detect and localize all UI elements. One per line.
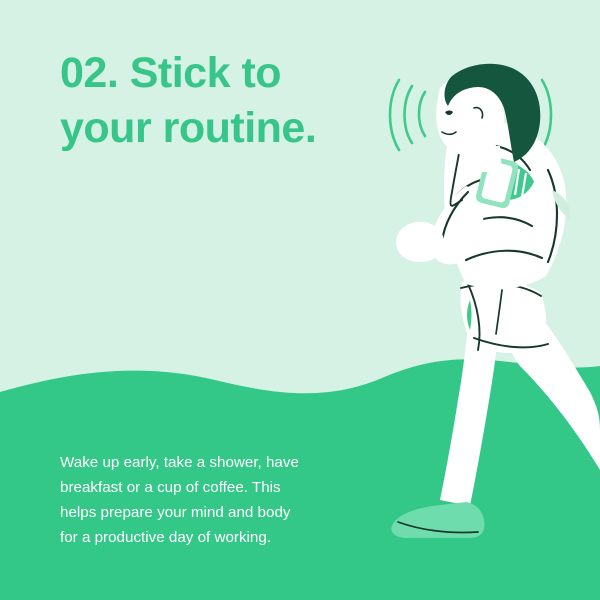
page-title: 02. Stick to your routine. [60, 46, 400, 156]
body-paragraph: Wake up early, take a shower, have break… [60, 450, 345, 550]
poster-canvas: 02. Stick to your routine. Wake up early… [0, 0, 600, 600]
